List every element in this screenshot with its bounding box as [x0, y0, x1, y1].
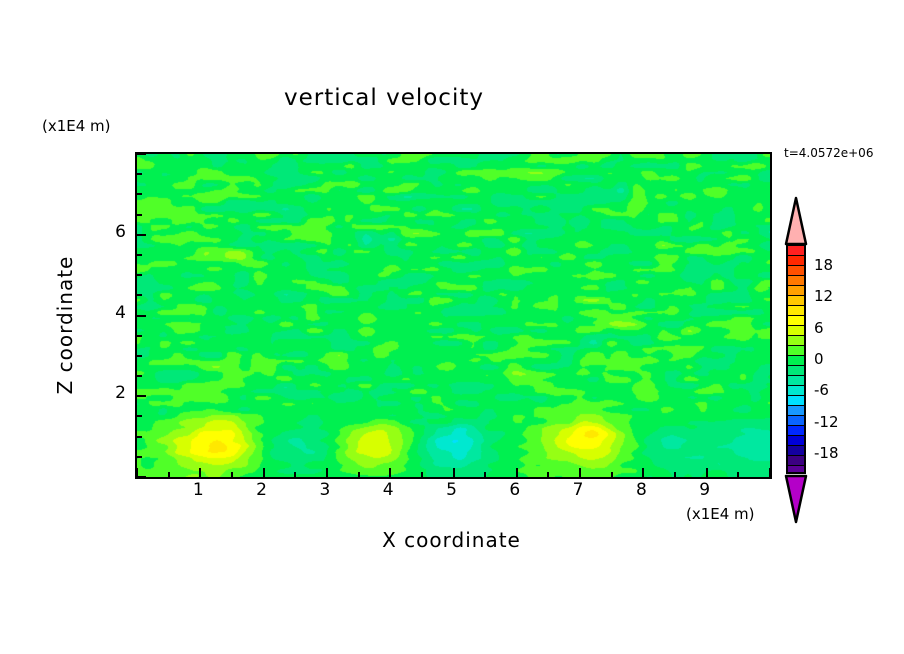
colorbar-ticklabel: 6 — [814, 319, 824, 337]
x-axis-unit-label: (x1E4 m) — [686, 505, 755, 523]
x-minor-tick — [421, 472, 423, 477]
y-major-tick — [137, 234, 146, 236]
x-axis-title: X coordinate — [135, 528, 768, 552]
colorbar-ticklabel: -18 — [814, 444, 839, 462]
colorbar: 181260-6-12-18 — [784, 196, 808, 521]
x-axis-ticklabel: 1 — [183, 480, 213, 500]
x-minor-tick — [231, 472, 233, 477]
colorbar-ticklabel: 18 — [814, 256, 833, 274]
x-major-tick — [199, 468, 201, 477]
x-major-tick — [706, 468, 708, 477]
x-axis-ticklabel: 4 — [373, 480, 403, 500]
colorbar-band — [788, 296, 804, 306]
y-minor-tick — [137, 214, 142, 216]
colorbar-band — [788, 336, 804, 346]
colorbar-band — [788, 326, 804, 336]
y-axis-ticklabel: 6 — [104, 222, 126, 242]
y-axis-ticklabel: 2 — [104, 383, 126, 403]
x-minor-tick — [547, 472, 549, 477]
figure-root: vertical velocity (x1E4 m) t=4.0572e+06 … — [0, 0, 904, 654]
y-minor-tick — [137, 173, 142, 175]
x-minor-tick — [358, 472, 360, 477]
y-minor-tick — [137, 254, 142, 256]
x-minor-tick — [611, 472, 613, 477]
colorbar-band — [788, 316, 804, 326]
colorbar-band — [788, 266, 804, 276]
colorbar-band — [788, 356, 804, 366]
y-minor-tick — [137, 375, 142, 377]
x-major-tick — [516, 468, 518, 477]
x-major-tick — [642, 468, 644, 477]
x-axis-ticklabel: 5 — [437, 480, 467, 500]
x-major-tick — [389, 468, 391, 477]
y-axis-unit-label: (x1E4 m) — [42, 117, 111, 135]
x-major-tick — [453, 468, 455, 477]
x-major-tick — [579, 468, 581, 477]
y-axis-ticklabel: 4 — [104, 303, 126, 323]
x-minor-tick — [168, 472, 170, 477]
x-minor-tick — [674, 472, 676, 477]
x-minor-tick — [737, 472, 739, 477]
contour-plot-area — [135, 152, 772, 479]
y-major-tick — [137, 153, 146, 155]
y-minor-tick — [137, 274, 142, 276]
colorbar-band — [788, 466, 804, 474]
colorbar-band — [788, 256, 804, 266]
colorbar-band — [788, 306, 804, 316]
colorbar-band — [788, 286, 804, 296]
y-major-tick — [137, 315, 146, 317]
x-major-tick — [769, 468, 771, 477]
x-axis-ticklabel: 7 — [563, 480, 593, 500]
x-axis-ticklabel: 6 — [500, 480, 530, 500]
x-major-tick — [263, 468, 265, 477]
x-axis-ticklabel: 2 — [247, 480, 277, 500]
colorbar-band — [788, 376, 804, 386]
colorbar-ticklabel: 12 — [814, 287, 833, 305]
colorbar-band — [788, 456, 804, 466]
x-minor-tick — [484, 472, 486, 477]
colorbar-band — [788, 406, 804, 416]
colorbar-band — [788, 386, 804, 396]
x-minor-tick — [294, 472, 296, 477]
page-title: vertical velocity — [0, 85, 768, 111]
colorbar-band — [788, 436, 804, 446]
colorbar-band — [788, 366, 804, 376]
y-minor-tick — [137, 436, 142, 438]
y-minor-tick — [137, 294, 142, 296]
colorbar-band — [788, 446, 804, 456]
colorbar-ticklabel: -6 — [814, 381, 829, 399]
colorbar-bands — [786, 244, 806, 474]
colorbar-over-cap-icon — [784, 196, 808, 246]
y-major-tick — [137, 476, 146, 478]
colorbar-band — [788, 346, 804, 356]
y-axis-title: Z coordinate — [53, 225, 77, 425]
x-major-tick — [326, 468, 328, 477]
colorbar-ticklabel: -12 — [814, 413, 839, 431]
velocity-field-canvas — [137, 154, 770, 477]
colorbar-band — [788, 426, 804, 436]
y-minor-tick — [137, 355, 142, 357]
timestamp-annotation: t=4.0572e+06 — [784, 146, 873, 160]
y-minor-tick — [137, 193, 142, 195]
colorbar-band — [788, 396, 804, 406]
colorbar-band — [788, 276, 804, 286]
colorbar-band — [788, 416, 804, 426]
x-axis-ticklabel: 8 — [626, 480, 656, 500]
colorbar-band — [788, 246, 804, 256]
y-minor-tick — [137, 335, 142, 337]
x-axis-ticklabel: 3 — [310, 480, 340, 500]
colorbar-ticklabel: 0 — [814, 350, 824, 368]
colorbar-under-cap-icon — [784, 474, 808, 524]
y-major-tick — [137, 395, 146, 397]
y-minor-tick — [137, 415, 142, 417]
x-axis-ticklabel: 9 — [690, 480, 720, 500]
y-minor-tick — [137, 456, 142, 458]
